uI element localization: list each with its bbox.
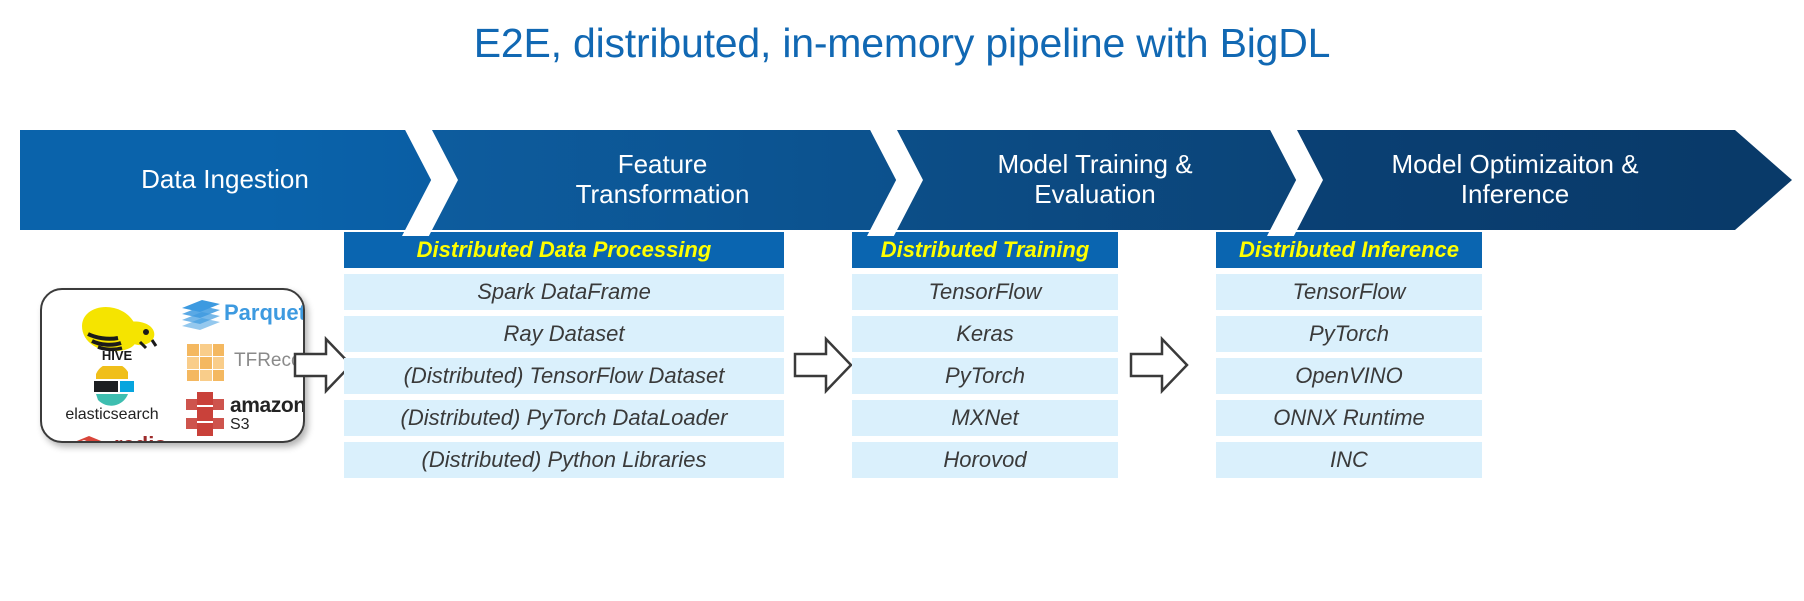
table-row[interactable]: ONNX Runtime bbox=[1216, 400, 1482, 436]
table-row[interactable]: Ray Dataset bbox=[344, 316, 784, 352]
parquet-icon bbox=[180, 298, 222, 332]
table-row[interactable]: (Distributed) Python Libraries bbox=[344, 442, 784, 478]
table-row[interactable]: Horovod bbox=[852, 442, 1118, 478]
pipeline-stage-feature-transformation[interactable]: Feature Transformation bbox=[430, 130, 895, 230]
elasticsearch-icon bbox=[92, 366, 136, 406]
amazon-s3-icon bbox=[184, 390, 226, 438]
table-row[interactable]: INC bbox=[1216, 442, 1482, 478]
table-row[interactable]: (Distributed) PyTorch DataLoader bbox=[344, 400, 784, 436]
table-row[interactable]: TensorFlow bbox=[852, 274, 1118, 310]
banner-end-point bbox=[1735, 130, 1792, 230]
table-distributed-data-processing: Distributed Data Processing Spark DataFr… bbox=[344, 232, 784, 478]
pipeline-stage-data-ingestion[interactable]: Data Ingestion bbox=[20, 130, 430, 230]
table-row[interactable]: OpenVINO bbox=[1216, 358, 1482, 394]
table-row[interactable]: MXNet bbox=[852, 400, 1118, 436]
redis-icon bbox=[66, 432, 112, 443]
table-row[interactable]: PyTorch bbox=[1216, 316, 1482, 352]
table-header: Distributed Inference bbox=[1216, 232, 1482, 268]
stage-label-line1: Feature bbox=[576, 150, 750, 180]
stage-label-line2: Transformation bbox=[576, 180, 750, 210]
flow-arrow-icon bbox=[1128, 330, 1190, 400]
stage-label-line1: Data Ingestion bbox=[141, 165, 309, 195]
data-source-card: HIVE elasticsearch redis bbox=[40, 288, 305, 443]
parquet-label: Parquet bbox=[224, 300, 305, 326]
table-row[interactable]: Keras bbox=[852, 316, 1118, 352]
elasticsearch-label: elasticsearch bbox=[52, 406, 172, 424]
stage-label-line1: Model Training & bbox=[997, 150, 1192, 180]
svg-text:HIVE: HIVE bbox=[102, 348, 133, 362]
slide-canvas: E2E, distributed, in-memory pipeline wit… bbox=[0, 0, 1804, 601]
table-distributed-inference: Distributed Inference TensorFlow PyTorch… bbox=[1216, 232, 1482, 478]
pipeline-banner: Data Ingestion Feature Transformation Mo… bbox=[20, 130, 1792, 230]
s3-sublabel: S3 bbox=[230, 416, 250, 434]
table-distributed-training: Distributed Training TensorFlow Keras Py… bbox=[852, 232, 1118, 478]
redis-label: redis bbox=[114, 432, 167, 443]
stage-label-line2: Evaluation bbox=[997, 180, 1192, 210]
flow-arrow-icon bbox=[792, 330, 854, 400]
pipeline-stage-model-training[interactable]: Model Training & Evaluation bbox=[895, 130, 1295, 230]
table-row[interactable]: TensorFlow bbox=[1216, 274, 1482, 310]
table-row[interactable]: PyTorch bbox=[852, 358, 1118, 394]
table-header: Distributed Data Processing bbox=[344, 232, 784, 268]
table-row[interactable]: (Distributed) TensorFlow Dataset bbox=[344, 358, 784, 394]
pipeline-stage-model-optimization[interactable]: Model Optimizaiton & Inference bbox=[1295, 130, 1735, 230]
table-row[interactable]: Spark DataFrame bbox=[344, 274, 784, 310]
stage-label-line2: Inference bbox=[1391, 180, 1638, 210]
hive-icon: HIVE bbox=[74, 300, 160, 362]
table-header: Distributed Training bbox=[852, 232, 1118, 268]
stage-label-line1: Model Optimizaiton & bbox=[1391, 150, 1638, 180]
tfrecord-icon bbox=[184, 338, 230, 384]
page-title: E2E, distributed, in-memory pipeline wit… bbox=[0, 20, 1804, 67]
